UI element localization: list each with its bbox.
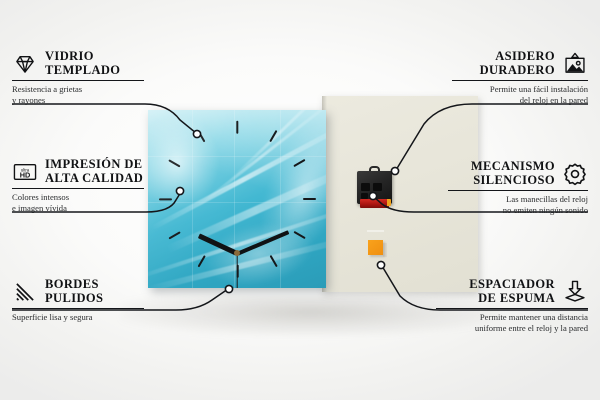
callout-divider [12,188,144,189]
clock-movement [357,166,392,204]
callout-divider [12,80,144,81]
callout-title: IMPRESIÓN DE ALTA CALIDAD [45,158,143,185]
glass-clock-product [148,110,326,288]
callout-divider [12,308,144,309]
callout-description: Colores intensos e imagen vívida [12,192,144,213]
callout-header: ASIDERO DURADERO [452,50,588,77]
foam-spacer [368,240,383,255]
movement-body [357,171,392,204]
infographic-canvas: VIDRIO TEMPLADO Resistencia a grietas y … [0,0,600,400]
callout-title: ASIDERO DURADERO [480,50,555,77]
callout-title: VIDRIO TEMPLADO [45,50,120,77]
callout-description: Permite una fácil instalación del reloj … [452,84,588,105]
glass-reflection [148,110,326,288]
movement-slot [361,183,370,191]
feature-callout-bordes-pulidos[interactable]: BORDES PULIDOS Superficie lisa y segura [12,278,144,323]
gear-icon [562,161,588,187]
callout-title: MECANISMO SILENCIOSO [471,160,555,187]
callout-description: Resistencia a grietas y rayones [12,84,144,105]
callout-header: BORDES PULIDOS [12,278,144,305]
polished-edge-icon [12,279,38,305]
battery-positive-tip [387,199,391,206]
feature-callout-asidero-duradero[interactable]: ASIDERO DURADERO Permite una fácil insta… [452,50,588,105]
callout-divider [452,80,588,81]
feature-callout-espaciador-espuma[interactable]: ESPACIADOR DE ESPUMA Permite mantener un… [436,278,588,333]
diamond-icon [12,51,38,77]
callout-divider [448,190,588,191]
callout-description: Permite mantener una distancia uniforme … [436,312,588,333]
feature-callout-impresion-alta-calidad[interactable]: ultra HD IMPRESIÓN DE ALTA CALIDAD Color… [12,158,144,213]
svg-text:HD: HD [20,170,31,179]
movement-slot [373,183,382,191]
feature-callout-vidrio-templado[interactable]: VIDRIO TEMPLADO Resistencia a grietas y … [12,50,144,105]
callout-description: Las manecillas del reloj no emiten ningú… [448,194,588,215]
callout-header: MECANISMO SILENCIOSO [448,160,588,187]
foam-spacer-side [383,243,387,257]
battery-label-stripe [367,230,384,232]
callout-header: ultra HD IMPRESIÓN DE ALTA CALIDAD [12,158,144,185]
ultra-hd-icon: ultra HD [12,159,38,185]
callout-header: VIDRIO TEMPLADO [12,50,144,77]
callout-divider [436,308,588,309]
picture-frame-icon [562,51,588,77]
callout-header: ESPACIADOR DE ESPUMA [436,278,588,305]
callout-title: ESPACIADOR DE ESPUMA [469,278,555,305]
feature-callout-mecanismo-silencioso[interactable]: MECANISMO SILENCIOSO Las manecillas del … [448,160,588,215]
battery [360,199,389,208]
callout-description: Superficie lisa y segura [12,312,144,323]
arrow-down-layers-icon [562,279,588,305]
callout-title: BORDES PULIDOS [45,278,103,305]
